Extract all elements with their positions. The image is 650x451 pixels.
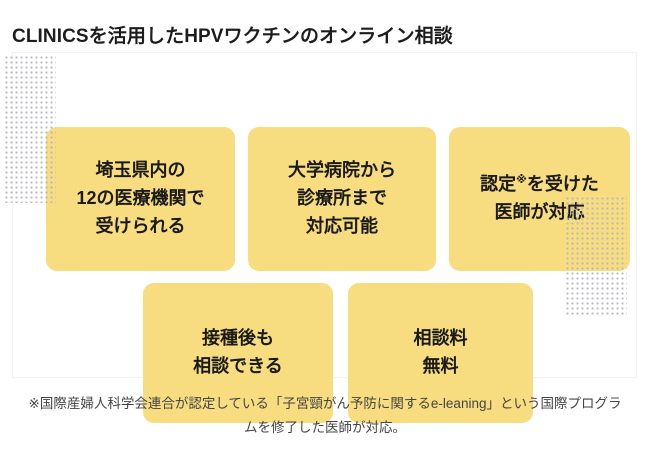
footnote: ※国際産婦人科学会連合が認定している「子宮頸がん予防に関するe-leaning」… bbox=[12, 392, 638, 439]
footnote-reference-mark: ※ bbox=[516, 174, 527, 186]
card-line: 診療所まで bbox=[297, 185, 387, 213]
card-line: 12の医療機関で bbox=[76, 185, 204, 213]
benefit-card-facility-range: 大学病院から 診療所まで 対応可能 bbox=[248, 127, 436, 271]
card-line-text: 認定 bbox=[480, 174, 516, 194]
benefit-card-clinic-count: 埼玉県内の 12の医療機関で 受けられる bbox=[46, 127, 235, 271]
footnote-line: ※国際産婦人科学会連合が認定している「子宮頸がん予防に関するe-leaning」… bbox=[12, 392, 638, 416]
card-line-text: を受けた bbox=[527, 174, 599, 194]
card-line: 無料 bbox=[423, 353, 459, 381]
card-line: 認定※を受けた bbox=[480, 171, 599, 199]
dot-pattern-right-lower bbox=[565, 196, 627, 316]
footnote-line: ムを修了した医師が対応。 bbox=[12, 416, 638, 440]
card-line: 接種後も bbox=[202, 325, 274, 353]
card-line: 対応可能 bbox=[306, 213, 378, 241]
card-line: 相談料 bbox=[414, 325, 468, 353]
page-title: CLINICSを活用したHPVワクチンのオンライン相談 bbox=[12, 21, 453, 48]
card-line: 大学病院から bbox=[288, 157, 396, 185]
card-line: 受けられる bbox=[96, 213, 186, 241]
dot-pattern-left bbox=[4, 55, 56, 203]
card-line: 埼玉県内の bbox=[96, 157, 186, 185]
infographic-frame: 埼玉県内の 12の医療機関で 受けられる 大学病院から 診療所まで 対応可能 認… bbox=[12, 52, 637, 378]
card-line: 相談できる bbox=[193, 353, 283, 381]
